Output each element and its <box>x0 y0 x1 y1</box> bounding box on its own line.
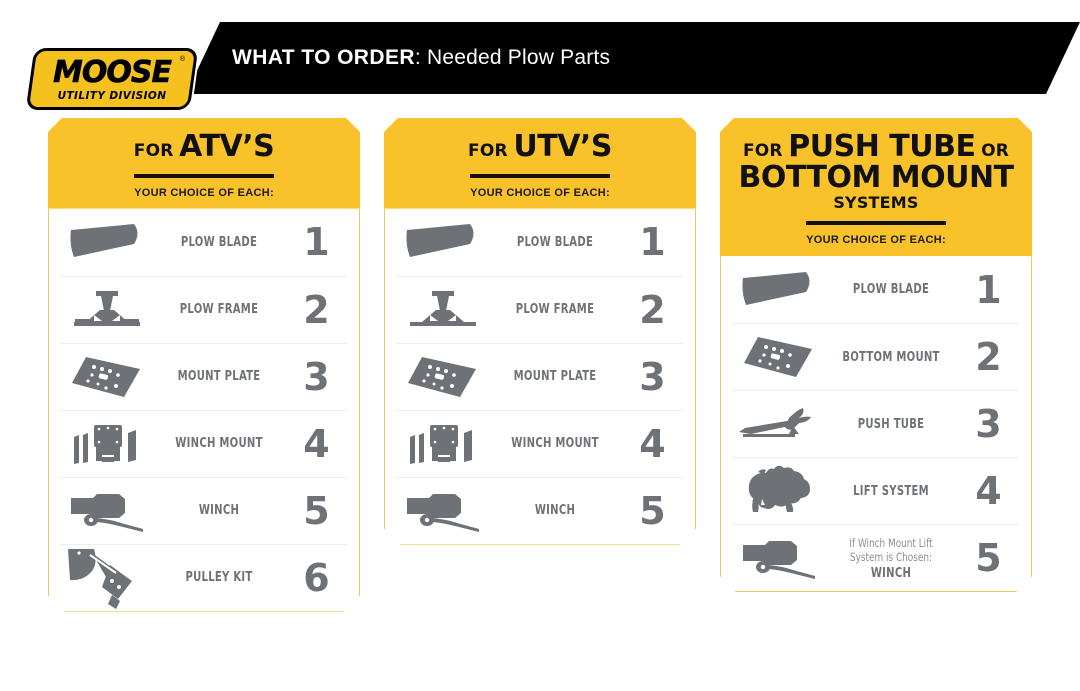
list-item-number: 4 <box>621 425 683 463</box>
card-atv-header: FOR ATV’S YOUR CHOICE OF EACH: <box>48 118 360 209</box>
card-push-tube-title-main: PUSH TUBE <box>788 129 975 164</box>
list-item-label: PLOW BLADE <box>162 235 276 250</box>
list-item-label: PUSH TUBE <box>834 417 948 432</box>
page-title-bold: WHAT TO ORDER <box>232 46 415 69</box>
list-item-label: PLOW BLADE <box>834 282 948 297</box>
card-utv: FOR UTV’S YOUR CHOICE OF EACH: PLOW BLAD… <box>384 118 696 545</box>
winch-mount-icon <box>61 421 153 467</box>
list-item[interactable]: WINCH MOUNT 4 <box>61 410 347 477</box>
card-push-tube-title-prefix: FOR <box>743 141 783 161</box>
card-push-tube-divider <box>806 221 946 225</box>
card-push-tube: FOR PUSH TUBE OR BOTTOM MOUNT SYSTEMS YO… <box>720 118 1032 592</box>
logo-wordmark: MOOSE <box>33 55 191 90</box>
card-utv-title-main: UTV’S <box>513 129 612 164</box>
list-item[interactable]: WINCH 5 <box>397 477 683 544</box>
list-item-label: WINCH MOUNT <box>162 436 276 451</box>
list-item[interactable]: PLOW BLADE 1 <box>61 209 347 276</box>
page-header: WHAT TO ORDER: Needed Plow Parts MOOSE U… <box>0 22 1080 94</box>
list-item-label: LIFT SYSTEM <box>834 484 948 499</box>
list-item-number: 5 <box>285 492 347 530</box>
plow-blade-icon <box>733 269 825 311</box>
plow-frame-icon <box>397 288 489 332</box>
list-item-number: 5 <box>957 539 1019 577</box>
list-item[interactable]: LIFT SYSTEM 4 <box>733 457 1019 524</box>
bottom-mount-icon <box>733 333 825 381</box>
list-item-note: If Winch Mount Lift System is Chosen: <box>834 536 948 565</box>
list-item[interactable]: PLOW BLADE 1 <box>397 209 683 276</box>
list-item-label: MOUNT PLATE <box>498 369 612 384</box>
winch-icon <box>61 488 153 534</box>
card-utv-title-prefix: FOR <box>468 141 508 161</box>
list-item[interactable]: If Winch Mount Lift System is Chosen: WI… <box>733 524 1019 591</box>
list-item-label: WINCH MOUNT <box>498 436 612 451</box>
list-item-label: PULLEY KIT <box>162 570 276 585</box>
lift-system-icon <box>733 466 825 516</box>
moose-logo: MOOSE UTILITY DIVISION ® <box>26 48 199 110</box>
card-utv-choice-label: YOUR CHOICE OF EACH: <box>394 187 686 199</box>
plow-blade-icon <box>61 221 153 263</box>
card-atv-choice-label: YOUR CHOICE OF EACH: <box>58 187 350 199</box>
list-item[interactable]: PUSH TUBE 3 <box>733 390 1019 457</box>
list-item-number: 2 <box>621 291 683 329</box>
list-item-number: 2 <box>285 291 347 329</box>
registered-trademark-icon: ® <box>180 56 185 63</box>
list-item[interactable]: PULLEY KIT 6 <box>61 544 347 611</box>
list-item-number: 4 <box>285 425 347 463</box>
plow-blade-icon <box>397 221 489 263</box>
mount-plate-icon <box>61 353 153 401</box>
list-item[interactable]: WINCH 5 <box>61 477 347 544</box>
winch-icon <box>733 535 825 581</box>
list-item-label: PLOW FRAME <box>162 302 276 317</box>
card-atv-title-main: ATV’S <box>179 129 274 164</box>
list-item[interactable]: MOUNT PLATE 3 <box>61 343 347 410</box>
list-item-label: BOTTOM MOUNT <box>834 350 948 365</box>
card-utv-divider <box>470 174 610 178</box>
list-item[interactable]: WINCH MOUNT 4 <box>397 410 683 477</box>
card-push-tube-body: PLOW BLADE 1 <box>720 256 1032 592</box>
card-push-tube-title-line2: BOTTOM MOUNT <box>730 163 1022 194</box>
list-item-number: 1 <box>285 223 347 261</box>
list-item-number: 3 <box>621 358 683 396</box>
list-item-label: PLOW FRAME <box>498 302 612 317</box>
list-item[interactable]: PLOW FRAME 2 <box>397 276 683 343</box>
winch-icon <box>397 488 489 534</box>
card-push-tube-header: FOR PUSH TUBE OR BOTTOM MOUNT SYSTEMS YO… <box>720 118 1032 256</box>
list-item-label: PLOW BLADE <box>498 235 612 250</box>
list-item-number: 4 <box>957 472 1019 510</box>
winch-mount-icon <box>397 421 489 467</box>
list-item-label: WINCH <box>498 503 612 518</box>
list-item-label: WINCH <box>162 503 276 518</box>
list-item[interactable]: PLOW BLADE 1 <box>733 256 1019 323</box>
card-push-tube-title-line3: SYSTEMS <box>730 193 1022 212</box>
card-atv-title-prefix: FOR <box>134 141 174 161</box>
header-banner: WHAT TO ORDER: Needed Plow Parts <box>186 22 1080 94</box>
list-item[interactable]: PLOW FRAME 2 <box>61 276 347 343</box>
card-utv-title: FOR UTV’S <box>394 132 686 163</box>
page-title-rest: : Needed Plow Parts <box>415 46 610 69</box>
list-item-number: 1 <box>621 223 683 261</box>
cards-container: FOR ATV’S YOUR CHOICE OF EACH: PLOW BLAD… <box>0 118 1080 678</box>
logo-subtitle: UTILITY DIVISION <box>33 90 191 102</box>
list-item-number: 5 <box>621 492 683 530</box>
card-utv-body: PLOW BLADE 1 <box>384 209 696 545</box>
card-atv-title: FOR ATV’S <box>58 132 350 163</box>
card-atv-body: PLOW BLADE 1 <box>48 209 360 612</box>
list-item-number: 2 <box>957 338 1019 376</box>
card-push-tube-choice-label: YOUR CHOICE OF EACH: <box>730 234 1022 246</box>
card-atv-divider <box>134 174 274 178</box>
list-item-label: MOUNT PLATE <box>162 369 276 384</box>
list-item-number: 3 <box>957 405 1019 443</box>
page-title: WHAT TO ORDER: Needed Plow Parts <box>232 46 610 70</box>
list-item-number: 6 <box>285 559 347 597</box>
pulley-kit-icon <box>61 547 153 609</box>
infographic-page: WHAT TO ORDER: Needed Plow Parts MOOSE U… <box>0 0 1080 691</box>
list-item-number: 3 <box>285 358 347 396</box>
list-item[interactable]: MOUNT PLATE 3 <box>397 343 683 410</box>
card-push-tube-title-conj: OR <box>981 141 1009 161</box>
plow-frame-icon <box>61 288 153 332</box>
card-utv-header: FOR UTV’S YOUR CHOICE OF EACH: <box>384 118 696 209</box>
list-item[interactable]: BOTTOM MOUNT 2 <box>733 323 1019 390</box>
card-atv: FOR ATV’S YOUR CHOICE OF EACH: PLOW BLAD… <box>48 118 360 612</box>
list-item-label-text: WINCH <box>871 566 911 581</box>
list-item-number: 1 <box>957 271 1019 309</box>
mount-plate-icon <box>397 353 489 401</box>
push-tube-icon <box>733 404 825 444</box>
card-push-tube-title-line1: FOR PUSH TUBE OR <box>730 132 1022 163</box>
list-item-label: If Winch Mount Lift System is Chosen: WI… <box>834 536 948 582</box>
